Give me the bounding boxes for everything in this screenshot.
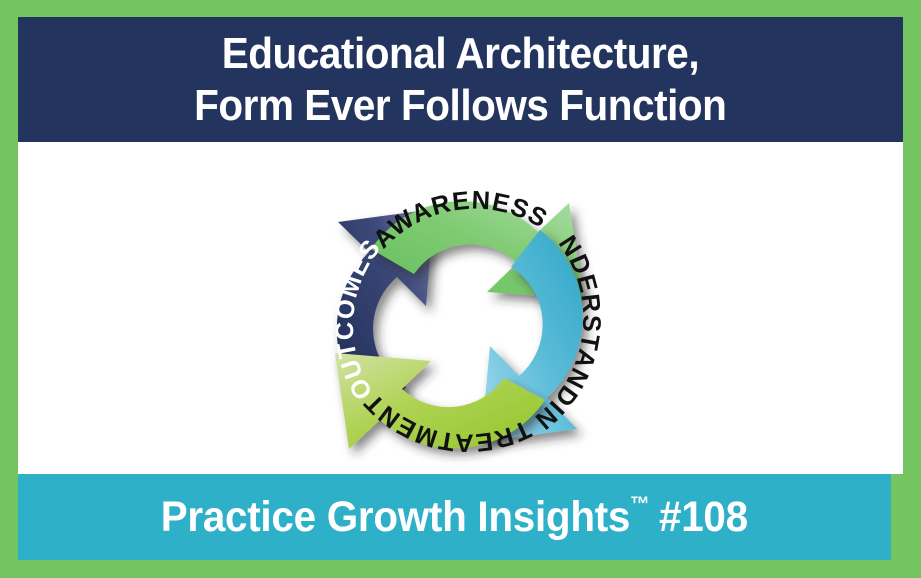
footer-text: Practice Growth Insights ™ #108 bbox=[161, 492, 748, 542]
title-banner: Educational Architecture, Form Ever Foll… bbox=[18, 17, 903, 142]
trademark-symbol: ™ bbox=[630, 494, 649, 515]
page-title-line-2: Form Ever Follows Function bbox=[194, 80, 726, 132]
brand-name: Practice Growth Insights bbox=[161, 492, 630, 542]
diagram-stage: AWARENESS UNDERSTANDING TREATMENT OUTCOM… bbox=[18, 142, 903, 474]
footer-banner: Practice Growth Insights ™ #108 bbox=[18, 474, 891, 560]
cycle-diagram: AWARENESS UNDERSTANDING TREATMENT OUTCOM… bbox=[266, 142, 666, 474]
issue-number: #108 bbox=[659, 492, 748, 542]
page-title-line-1: Educational Architecture, bbox=[222, 28, 699, 80]
slide-canvas: Educational Architecture, Form Ever Foll… bbox=[0, 0, 921, 578]
